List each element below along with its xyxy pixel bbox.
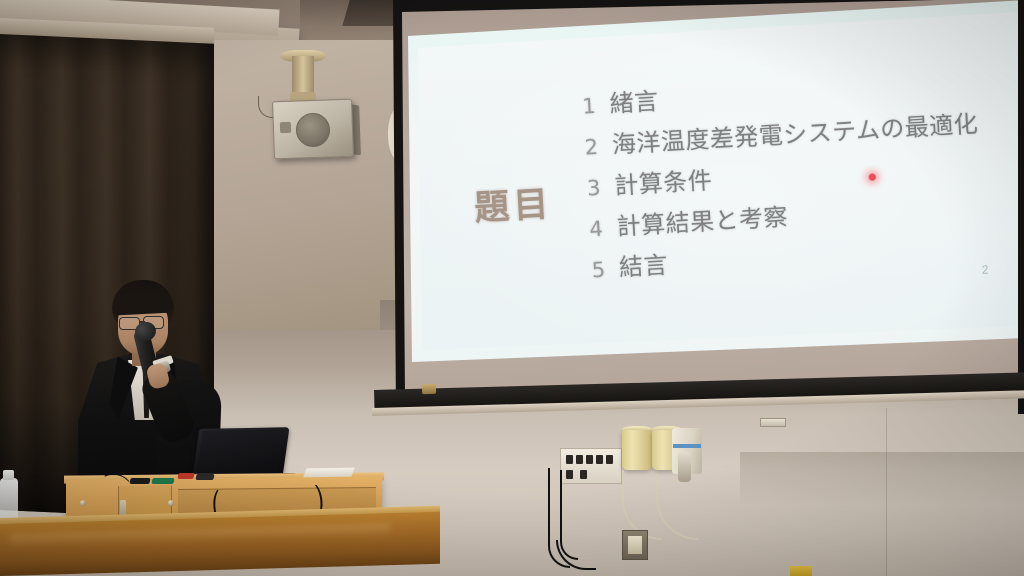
wall-jack[interactable] bbox=[566, 455, 573, 464]
marker-pen-green[interactable] bbox=[151, 478, 174, 484]
speaker-mount-pole bbox=[292, 56, 314, 96]
cable-reel[interactable] bbox=[622, 430, 652, 470]
marker-pen-dark[interactable] bbox=[195, 474, 214, 480]
marker-pen-red[interactable] bbox=[177, 473, 194, 479]
wall-jack[interactable] bbox=[580, 470, 587, 479]
podium-screw bbox=[168, 500, 174, 506]
slide-content: 題目 1 緒言 2 海洋温度差発電システムの最適化 3 計算条件 4 計算結果と… bbox=[367, 0, 1024, 433]
list-item-number: 3 bbox=[585, 176, 601, 201]
wall-jack[interactable] bbox=[596, 455, 603, 464]
list-item-label: 計算条件 bbox=[613, 160, 713, 201]
wall-jack[interactable] bbox=[606, 455, 613, 464]
water-bottle-cap bbox=[3, 470, 14, 480]
list-item-label: 緒言 bbox=[608, 81, 659, 119]
power-outlet-socket[interactable] bbox=[628, 536, 642, 554]
list-item-number: 4 bbox=[587, 217, 603, 242]
slide-page-number: 2 bbox=[981, 263, 988, 277]
list-item-number: 2 bbox=[582, 135, 598, 160]
list-item-label: 計算結果と考察 bbox=[616, 197, 789, 242]
list-item-number: 5 bbox=[590, 258, 606, 283]
wall-shadow-band bbox=[740, 452, 1024, 504]
marker-pen-black[interactable] bbox=[129, 478, 150, 484]
list-item-label: 結言 bbox=[618, 245, 669, 283]
wall-sign bbox=[760, 418, 786, 427]
slide-agenda-list: 1 緒言 2 海洋温度差発電システムの最適化 3 計算条件 4 計算結果と考察 … bbox=[580, 63, 987, 290]
wall-phone-label bbox=[673, 444, 701, 448]
wall-seam bbox=[886, 408, 887, 576]
wall-jack[interactable] bbox=[586, 455, 593, 464]
podium-screw bbox=[80, 500, 86, 506]
presentation-room-photo: 題目 1 緒言 2 海洋温度差発電システムの最適化 3 計算条件 4 計算結果と… bbox=[0, 0, 1024, 576]
paper-sheet bbox=[303, 468, 355, 478]
wall-jack[interactable] bbox=[576, 455, 583, 464]
list-item-number: 1 bbox=[580, 94, 596, 119]
speaker-tweeter-icon bbox=[280, 122, 291, 133]
slide-heading: 題目 bbox=[473, 176, 554, 231]
floor-object bbox=[790, 566, 812, 576]
hair-fringe bbox=[112, 290, 173, 315]
laptop-screen bbox=[197, 429, 284, 473]
